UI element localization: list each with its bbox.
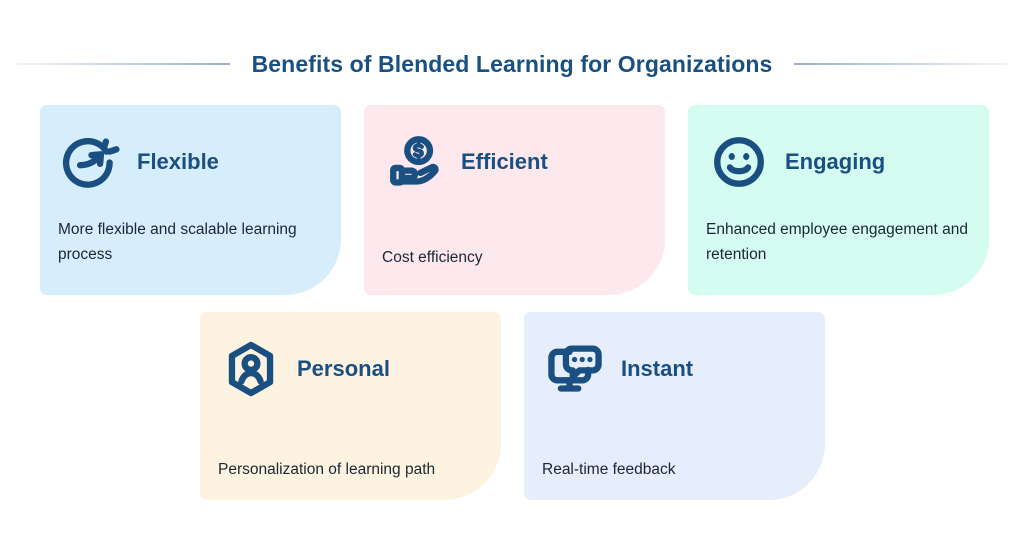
card-header: Efficient xyxy=(386,131,548,193)
smiley-face-icon xyxy=(710,133,768,191)
benefit-card-instant[interactable]: Instant Real-time feedback xyxy=(524,312,825,500)
target-arrow-icon xyxy=(62,133,120,191)
card-row-bottom: Personal Personalization of learning pat… xyxy=(200,312,825,500)
benefit-card-efficient[interactable]: Efficient Cost efficiency xyxy=(364,105,665,295)
hexagon-person-icon xyxy=(222,340,280,398)
card-title: Personal xyxy=(297,358,390,380)
card-description: Enhanced employee engagement and retenti… xyxy=(706,217,973,267)
card-header: Instant xyxy=(546,338,693,400)
card-title: Instant xyxy=(621,358,693,380)
monitor-chat-icon xyxy=(546,340,604,398)
card-description: Cost efficiency xyxy=(382,245,649,270)
benefit-card-personal[interactable]: Personal Personalization of learning pat… xyxy=(200,312,501,500)
card-header: Personal xyxy=(222,338,390,400)
infographic-page: Benefits of Blended Learning for Organiz… xyxy=(0,0,1024,546)
card-header: Engaging xyxy=(710,131,885,193)
hand-holding-coin-icon xyxy=(386,133,444,191)
card-description: Personalization of learning path xyxy=(218,457,485,482)
card-title: Engaging xyxy=(785,151,885,173)
benefit-card-engaging[interactable]: Engaging Enhanced employee engagement an… xyxy=(688,105,989,295)
card-header: Flexible xyxy=(62,131,219,193)
page-title: Benefits of Blended Learning for Organiz… xyxy=(252,53,773,76)
card-description: More flexible and scalable learning proc… xyxy=(58,217,325,267)
page-header: Benefits of Blended Learning for Organiz… xyxy=(0,44,1024,84)
title-rule-right xyxy=(794,63,1009,65)
card-title: Flexible xyxy=(137,151,219,173)
card-row-top: Flexible More flexible and scalable lear… xyxy=(40,105,989,295)
benefit-card-flexible[interactable]: Flexible More flexible and scalable lear… xyxy=(40,105,341,295)
card-title: Efficient xyxy=(461,151,548,173)
card-description: Real-time feedback xyxy=(542,457,809,482)
title-rule-left xyxy=(15,63,230,65)
